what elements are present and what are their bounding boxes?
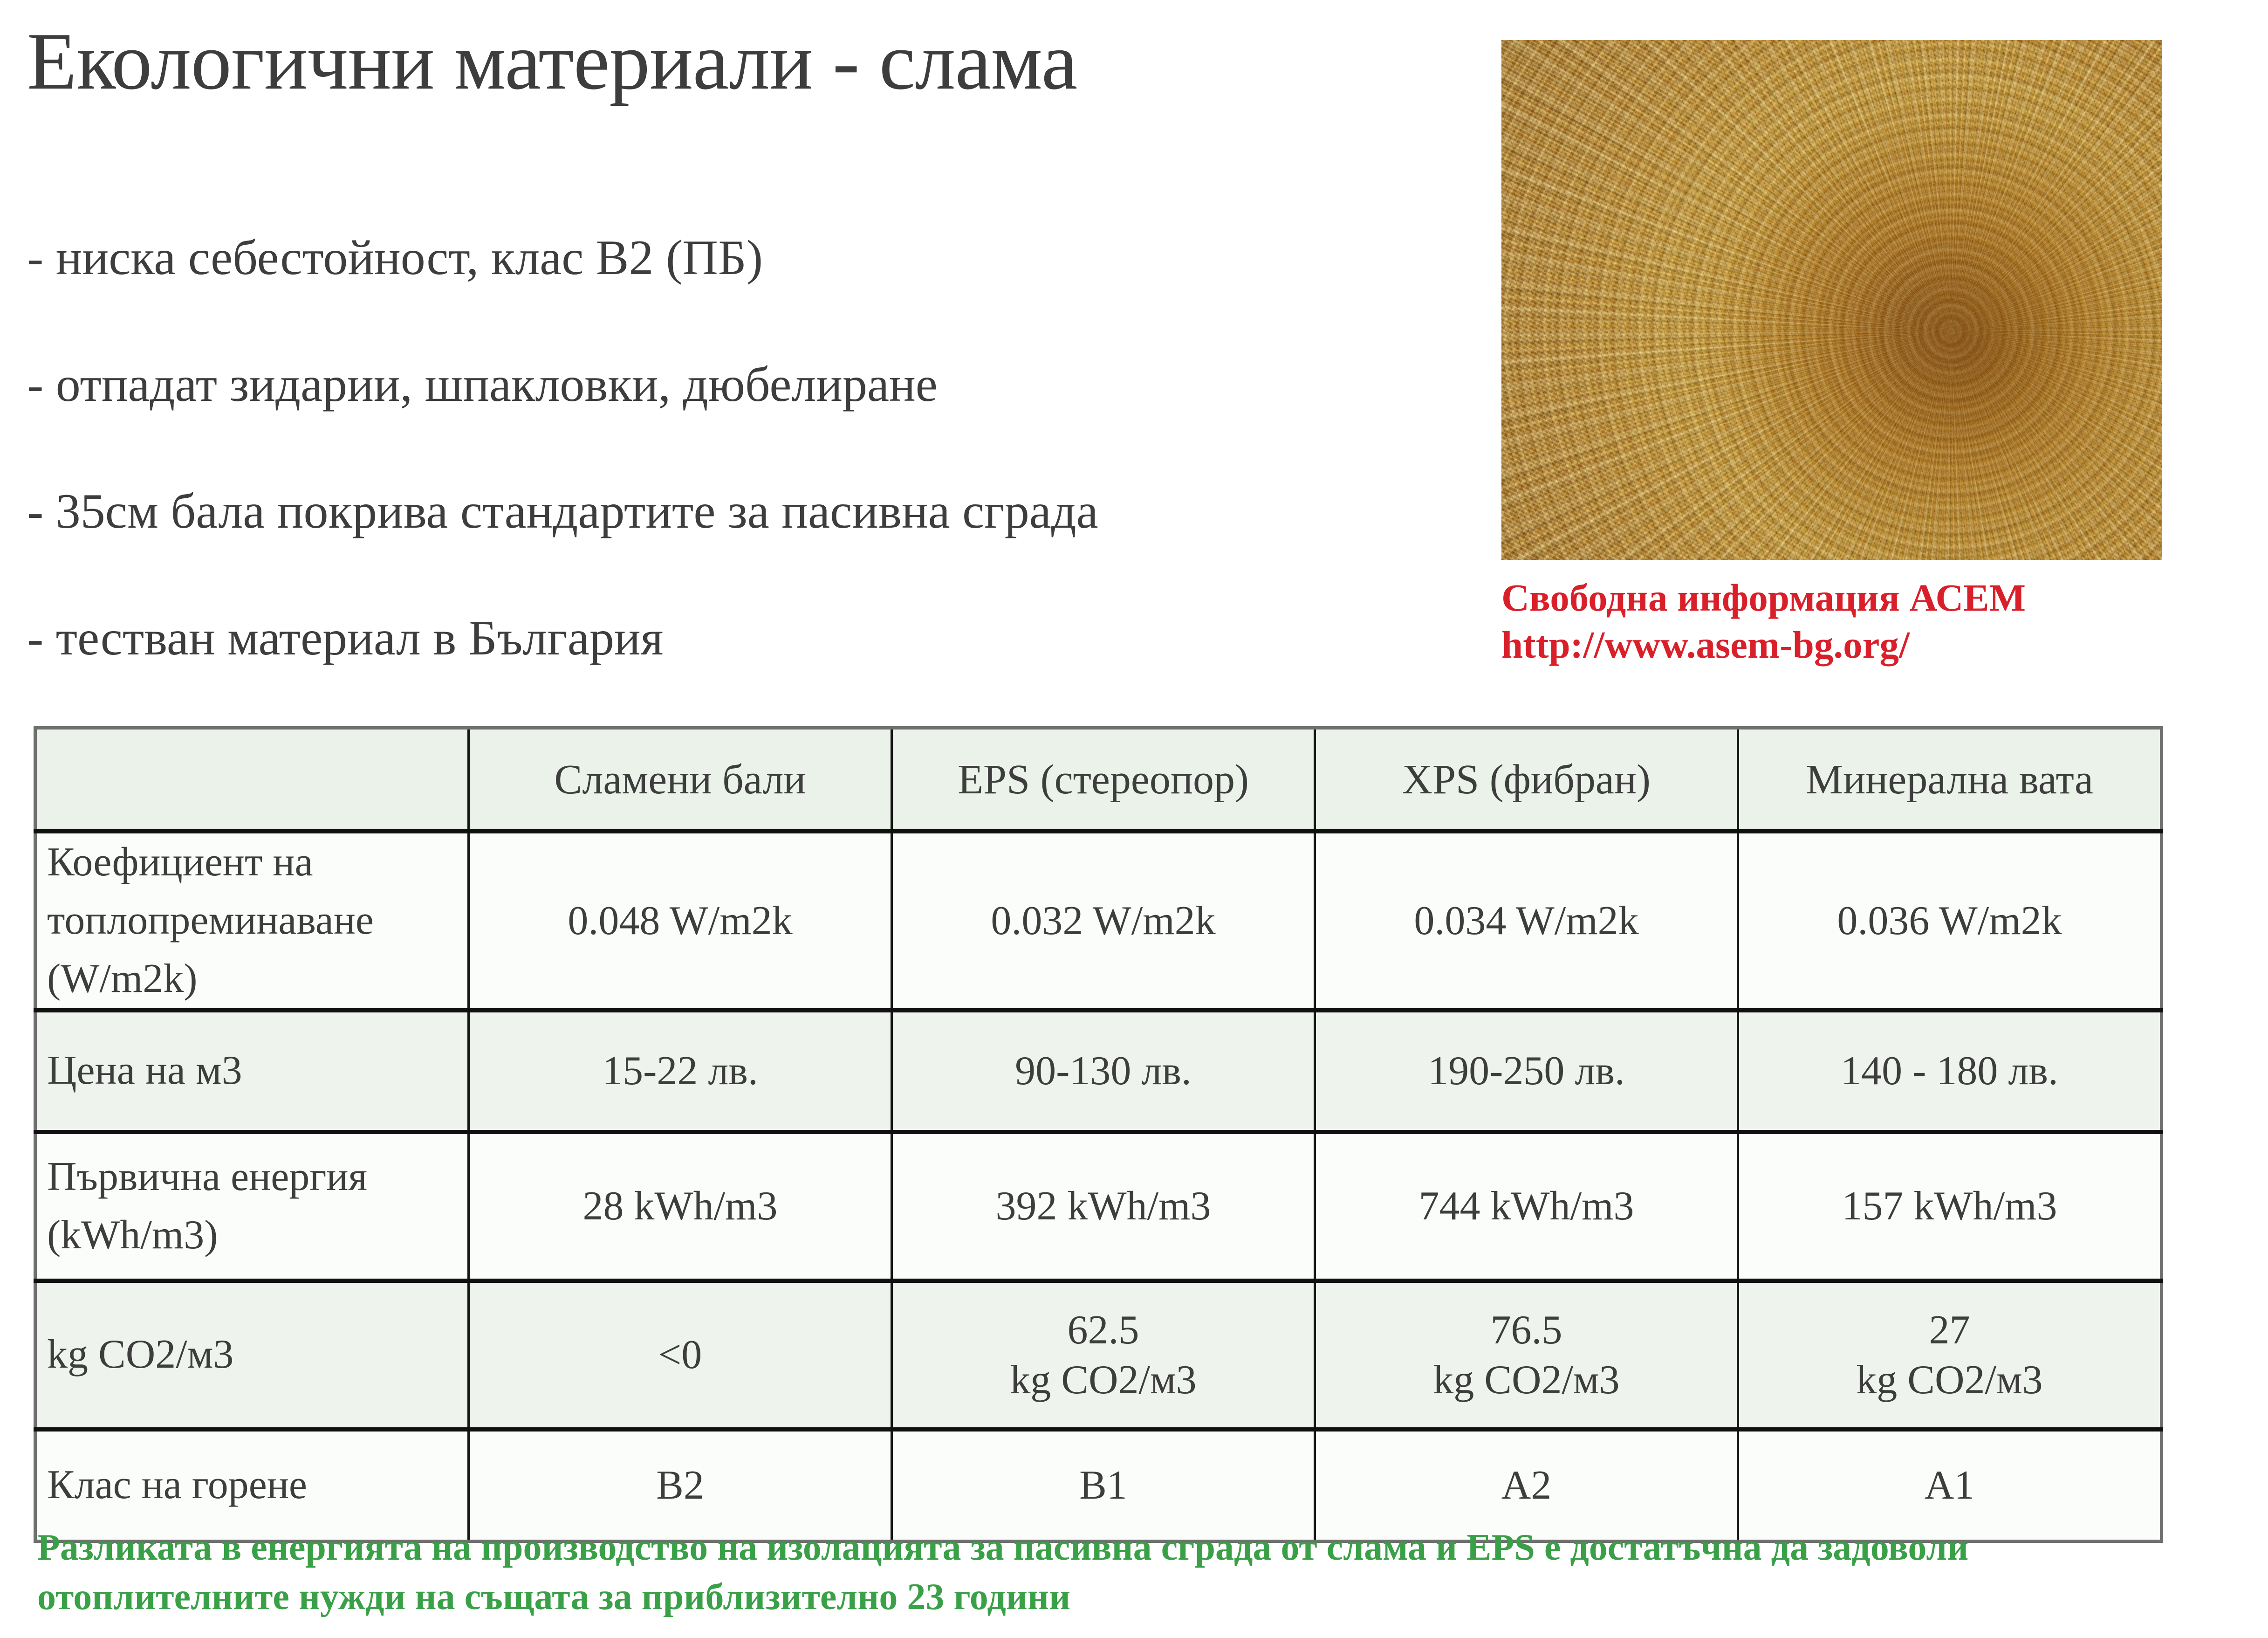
cell-co2-xps: 76.5 kg CO2/м3 [1315, 1280, 1738, 1429]
straw-core-shadow [1501, 40, 2162, 560]
cell-energy-xps: 744 kWh/m3 [1315, 1132, 1738, 1280]
table-row: Цена на м3 15-22 лв. 90-130 лв. 190-250 … [35, 1010, 2162, 1132]
column-header-eps: EPS (стереопор) [892, 728, 1315, 832]
bullet-item-tested: - тестван материал в България [27, 613, 1481, 663]
bullet-item-passive: - 35см бала покрива стандартите за пасив… [27, 487, 1481, 536]
page-title: Екологични материали - слама [27, 19, 1453, 104]
cell-value: 0.036 W/m2k [1837, 898, 2062, 943]
cell-energy-wool: 157 kWh/m3 [1738, 1132, 2162, 1280]
cell-price-straw: 15-22 лв. [469, 1010, 892, 1132]
cell-value: 27 [1929, 1308, 1970, 1353]
credit-organization: Свободна информация АСЕМ [1501, 574, 2200, 621]
cell-price-eps: 90-130 лв. [892, 1010, 1315, 1132]
cell-value: 90-130 лв. [1015, 1048, 1192, 1094]
column-header-xps: XPS (фибран) [1315, 728, 1738, 832]
footnote-line-2: отоплителните нужди на същата за приблиз… [37, 1573, 2227, 1622]
cell-value: A1 [1925, 1463, 1975, 1508]
footnote-line-1: Разликата в енергията на производство на… [37, 1523, 2227, 1573]
cell-value-unit: kg CO2/м3 [1326, 1355, 1727, 1405]
credit-url[interactable]: http://www.asem-bg.org/ [1501, 621, 2200, 668]
table-row: Първична енергия (kWh/m3) 28 kWh/m3 392 … [35, 1132, 2162, 1280]
column-header-mineral-wool: Минерална вата [1738, 728, 2162, 832]
cell-value: 190-250 лв. [1428, 1048, 1625, 1094]
cell-heat-transfer-straw: 0.048 W/m2k [469, 832, 892, 1011]
cell-energy-eps: 392 kWh/m3 [892, 1132, 1315, 1280]
bullet-item-masonry: - отпадат зидарии, шпакловки, дюбелиране [27, 360, 1481, 409]
cell-heat-transfer-wool: 0.036 W/m2k [1738, 832, 2162, 1011]
cell-value: 140 - 180 лв. [1841, 1048, 2058, 1094]
cell-value-unit: kg CO2/м3 [903, 1355, 1303, 1405]
cell-value: 0.032 W/m2k [991, 898, 1215, 943]
source-credit: Свободна информация АСЕМ http://www.asem… [1501, 574, 2200, 669]
cell-price-xps: 190-250 лв. [1315, 1010, 1738, 1132]
cell-energy-straw: 28 kWh/m3 [469, 1132, 892, 1280]
cell-value: 28 kWh/m3 [583, 1184, 778, 1229]
bullet-list: - ниска себестойност, клас В2 (ПБ) - отп… [27, 233, 1481, 663]
cell-price-wool: 140 - 180 лв. [1738, 1010, 2162, 1132]
cell-value: 0.034 W/m2k [1414, 898, 1638, 943]
cell-value: B2 [656, 1463, 704, 1508]
table-row: Коефициент на топлопреминаване (W/m2k) 0… [35, 832, 2162, 1011]
table-row: kg CO2/м3 <0 62.5 kg CO2/м3 76.5 kg CO2/… [35, 1280, 2162, 1429]
cell-value: 157 kWh/m3 [1842, 1184, 2057, 1229]
column-header-straw-bales: Сламени бали [469, 728, 892, 832]
cell-value: 0.048 W/m2k [568, 898, 792, 943]
cell-co2-eps: 62.5 kg CO2/м3 [892, 1280, 1315, 1429]
row-label-heat-transfer: Коефициент на топлопреминаване (W/m2k) [35, 832, 469, 1011]
cell-value: 392 kWh/m3 [996, 1184, 1211, 1229]
cell-co2-straw: <0 [469, 1280, 892, 1429]
cell-heat-transfer-eps: 0.032 W/m2k [892, 832, 1315, 1011]
cell-value: B1 [1079, 1463, 1127, 1508]
cell-value-unit: kg CO2/м3 [1749, 1355, 2150, 1405]
row-label-co2: kg CO2/м3 [35, 1280, 469, 1429]
cell-co2-wool: 27 kg CO2/м3 [1738, 1280, 2162, 1429]
row-label-primary-energy: Първична енергия (kWh/m3) [35, 1132, 469, 1280]
bullet-item-cost: - ниска себестойност, клас В2 (ПБ) [27, 233, 1481, 282]
cell-heat-transfer-xps: 0.034 W/m2k [1315, 832, 1738, 1011]
row-label-price: Цена на м3 [35, 1010, 469, 1132]
materials-comparison-table: Сламени бали EPS (стереопор) XPS (фибран… [34, 726, 2163, 1543]
table-header-row: Сламени бали EPS (стереопор) XPS (фибран… [35, 728, 2162, 832]
straw-bale-photo [1501, 40, 2162, 560]
table-corner-cell [35, 728, 469, 832]
footnote: Разликата в енергията на производство на… [37, 1523, 2227, 1622]
cell-value: 744 kWh/m3 [1419, 1184, 1634, 1229]
cell-value: A2 [1501, 1463, 1552, 1508]
cell-value: 62.5 [1068, 1308, 1139, 1353]
cell-value: <0 [658, 1332, 702, 1377]
cell-value: 15-22 лв. [602, 1048, 758, 1094]
cell-value: 76.5 [1491, 1308, 1562, 1353]
